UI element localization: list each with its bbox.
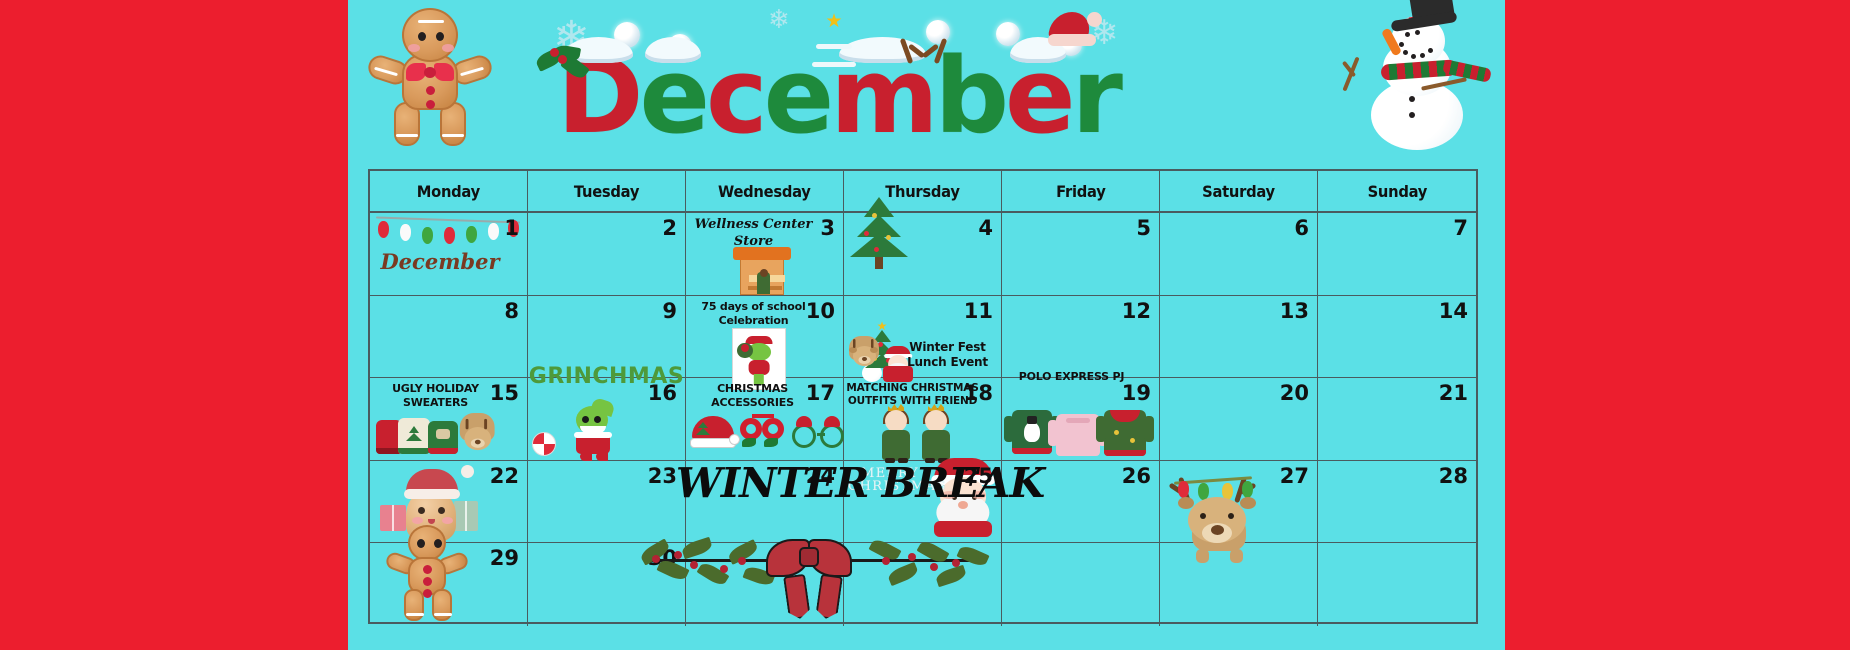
day-number: 15 xyxy=(490,381,519,405)
wreath-headband-icon xyxy=(740,418,790,454)
day-cell-29[interactable]: 29 xyxy=(370,543,528,626)
day-number: 1 xyxy=(504,216,519,240)
day-label: Tuesday xyxy=(574,182,639,201)
day-number: 21 xyxy=(1439,381,1468,405)
day-number: 4 xyxy=(978,216,993,240)
day-number: 12 xyxy=(1122,299,1151,323)
day-cell-13[interactable]: 13 xyxy=(1160,296,1318,378)
reindeer-lights-icon xyxy=(1174,475,1266,553)
santa-hat-headband-icon xyxy=(690,416,736,452)
day-number: 18 xyxy=(964,381,993,405)
day-cell-5[interactable]: 5 xyxy=(1002,213,1160,295)
day-cell-empty-2 xyxy=(1002,543,1160,626)
day-number: 10 xyxy=(806,299,835,323)
title-letter: c xyxy=(706,47,764,146)
event-label: Winter Fest Lunch Event xyxy=(900,340,995,371)
day-cell-28[interactable]: 28 xyxy=(1318,461,1476,543)
calendar-week-3: 15 UGLY HOLIDAY SWEATERS xyxy=(370,378,1476,461)
day-number: 27 xyxy=(1280,464,1309,488)
day-label: Sunday xyxy=(1367,182,1427,201)
day-cell-27[interactable]: 27 xyxy=(1160,461,1318,543)
column-header-tuesday: Tuesday xyxy=(528,171,686,211)
day-label: Friday xyxy=(1056,182,1105,201)
calendar-week-1: 1 December 2 xyxy=(370,213,1476,296)
day-number: 6 xyxy=(1294,216,1309,240)
day-cell-14[interactable]: 14 xyxy=(1318,296,1476,378)
column-header-monday: Monday xyxy=(370,171,528,211)
calendar-table: Monday Tuesday Wednesday Thursday Friday… xyxy=(368,169,1478,624)
calendar-slide: ❄ ❄ ❄ ★ xyxy=(348,0,1505,650)
day-cell-20[interactable]: 20 xyxy=(1160,378,1318,460)
event-label: POLO EXPRESS PJ xyxy=(1006,370,1137,384)
day-cell-7[interactable]: 7 xyxy=(1318,213,1476,295)
grinchmas-banner: GRINCHMAS xyxy=(528,364,685,389)
winter-break-banner: WINTER BREAK xyxy=(640,459,1080,507)
christmas-lights-icon xyxy=(374,215,524,251)
title-letter: e xyxy=(639,47,706,146)
event-label: Wellness Center Store xyxy=(690,217,817,250)
slide-header: ❄ ❄ ❄ ★ xyxy=(348,0,1505,170)
day-cell-18[interactable]: 18 MATCHING CHRISTMAS OUTFITS WITH FRIEN… xyxy=(844,378,1002,460)
holly-garland-bow-icon xyxy=(636,529,996,621)
column-header-wednesday: Wednesday xyxy=(686,171,844,211)
event-label: 75 days of school Celebration xyxy=(690,300,817,328)
star-icon: ★ xyxy=(825,12,842,31)
title-letter: r xyxy=(1072,47,1119,146)
day-label: Saturday xyxy=(1202,182,1275,201)
day-cell-1[interactable]: 1 December xyxy=(370,213,528,295)
day-cell-15[interactable]: 15 UGLY HOLIDAY SWEATERS xyxy=(370,378,528,460)
day-label: Monday xyxy=(417,182,480,201)
day-number: 5 xyxy=(1136,216,1151,240)
day-number: 3 xyxy=(820,216,835,240)
column-header-saturday: Saturday xyxy=(1160,171,1318,211)
pajamas-icon xyxy=(1012,406,1152,462)
day-number: 11 xyxy=(964,299,993,323)
slide-root: ❄ ❄ ❄ ★ xyxy=(0,0,1850,650)
store-icon xyxy=(736,247,788,295)
day-number: 19 xyxy=(1122,381,1151,405)
gingerbread-man-small-icon xyxy=(384,525,470,623)
day-number: 17 xyxy=(806,381,835,405)
day-cell-21[interactable]: 21 xyxy=(1318,378,1476,460)
grinch-photo-icon xyxy=(732,328,786,390)
day-cell-10[interactable]: 10 75 days of school Celebration xyxy=(686,296,844,378)
day-number: 13 xyxy=(1280,299,1309,323)
day-number: 29 xyxy=(490,546,519,570)
event-label: MATCHING CHRISTMAS OUTFITS WITH FRIEND xyxy=(846,382,979,409)
mini-christmas-tree-icon: ★ xyxy=(808,14,860,88)
day-cell-11[interactable]: 11 Winter Fest Lunch Event ★ xyxy=(844,296,1002,378)
day-label: Wednesday xyxy=(718,182,811,201)
title-letter: b xyxy=(935,47,1005,146)
day-number: 26 xyxy=(1122,464,1151,488)
ugly-sweaters-icon xyxy=(376,416,506,460)
day-cell-4[interactable]: 4 xyxy=(844,213,1002,295)
day-number: 20 xyxy=(1280,381,1309,405)
title-letter: e xyxy=(1005,47,1072,146)
day-number: 28 xyxy=(1439,464,1468,488)
day-number: 14 xyxy=(1439,299,1468,323)
day-number: 8 xyxy=(504,299,519,323)
day-cell-3[interactable]: 3 Wellness Center Store xyxy=(686,213,844,295)
event-label: UGLY HOLIDAY SWEATERS xyxy=(374,382,497,410)
christmas-tree-icon xyxy=(848,191,910,269)
event-label: CHRISTMAS ACCESSORIES xyxy=(690,382,815,410)
gingerbread-man-icon xyxy=(366,6,494,146)
day-number: 22 xyxy=(490,464,519,488)
day-cell-17[interactable]: 17 CHRISTMAS ACCESSORIES xyxy=(686,378,844,460)
day-cell-12[interactable]: 12 xyxy=(1002,296,1160,378)
day-cell-8[interactable]: 8 xyxy=(370,296,528,378)
snowman-icon xyxy=(1347,4,1487,152)
day-cell-16[interactable]: 16 GRINCHMAS xyxy=(528,378,686,460)
day-number: 2 xyxy=(662,216,677,240)
day-number: 7 xyxy=(1453,216,1468,240)
santa-hat-icon xyxy=(1048,12,1096,46)
day-cell-2[interactable]: 2 xyxy=(528,213,686,295)
column-header-friday: Friday xyxy=(1002,171,1160,211)
grinch-candycane-icon xyxy=(532,404,632,462)
day-cell-empty-4 xyxy=(1318,543,1476,626)
column-header-sunday: Sunday xyxy=(1318,171,1476,211)
day-cell-19[interactable]: 19 POLO EXPRESS PJ xyxy=(1002,378,1160,460)
calendar-header-row: Monday Tuesday Wednesday Thursday Friday… xyxy=(370,171,1476,213)
day-number: 9 xyxy=(662,299,677,323)
christmas-glasses-icon xyxy=(792,422,850,454)
day-cell-6[interactable]: 6 xyxy=(1160,213,1318,295)
december-script-art: December xyxy=(380,249,500,274)
santa-hat-wreath-glasses-icon xyxy=(690,416,840,458)
